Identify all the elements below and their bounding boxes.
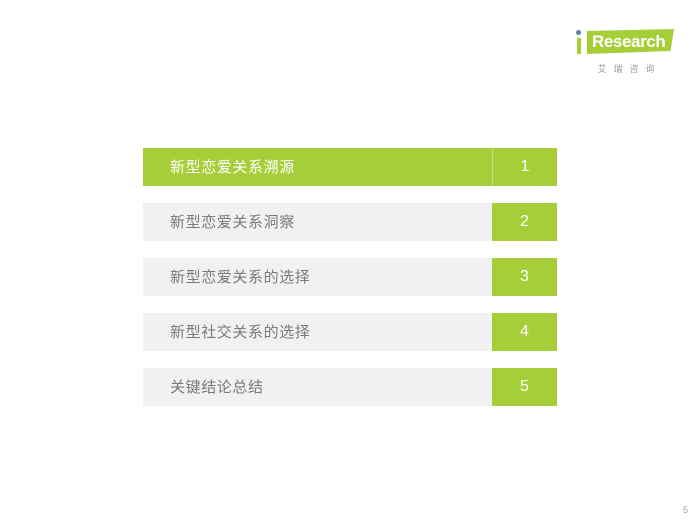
logo-subtitle: 艾瑞咨询	[574, 62, 678, 75]
page-number: 5	[683, 506, 688, 515]
agenda-item-label: 新型恋爱关系洞察	[143, 203, 492, 241]
agenda-item-number: 4	[492, 313, 557, 351]
slide-canvas: Research 艾瑞咨询 新型恋爱关系溯源 1 新型恋爱关系洞察 2 新型恋爱…	[0, 0, 700, 525]
logo-wordmark: Research	[592, 32, 672, 51]
agenda-row[interactable]: 新型恋爱关系的选择 3	[143, 258, 557, 296]
agenda-row[interactable]: 新型社交关系的选择 4	[143, 313, 557, 351]
iresearch-logo: Research 艾瑞咨询	[570, 28, 680, 80]
agenda-item-number: 3	[492, 258, 557, 296]
agenda-row[interactable]: 关键结论总结 5	[143, 368, 557, 406]
agenda-item-label: 新型社交关系的选择	[143, 313, 492, 351]
agenda-item-label: 新型恋爱关系溯源	[143, 148, 492, 186]
logo-i-stem	[577, 38, 581, 54]
logo-mark: Research	[570, 28, 680, 58]
agenda-row[interactable]: 新型恋爱关系洞察 2	[143, 203, 557, 241]
agenda-item-number: 1	[492, 148, 557, 186]
agenda-item-label: 关键结论总结	[143, 368, 492, 406]
agenda-list: 新型恋爱关系溯源 1 新型恋爱关系洞察 2 新型恋爱关系的选择 3 新型社交关系…	[143, 148, 557, 406]
agenda-row[interactable]: 新型恋爱关系溯源 1	[143, 148, 557, 186]
agenda-item-number: 2	[492, 203, 557, 241]
logo-i-dot-icon	[576, 30, 581, 35]
agenda-item-number: 5	[492, 368, 557, 406]
agenda-item-label: 新型恋爱关系的选择	[143, 258, 492, 296]
